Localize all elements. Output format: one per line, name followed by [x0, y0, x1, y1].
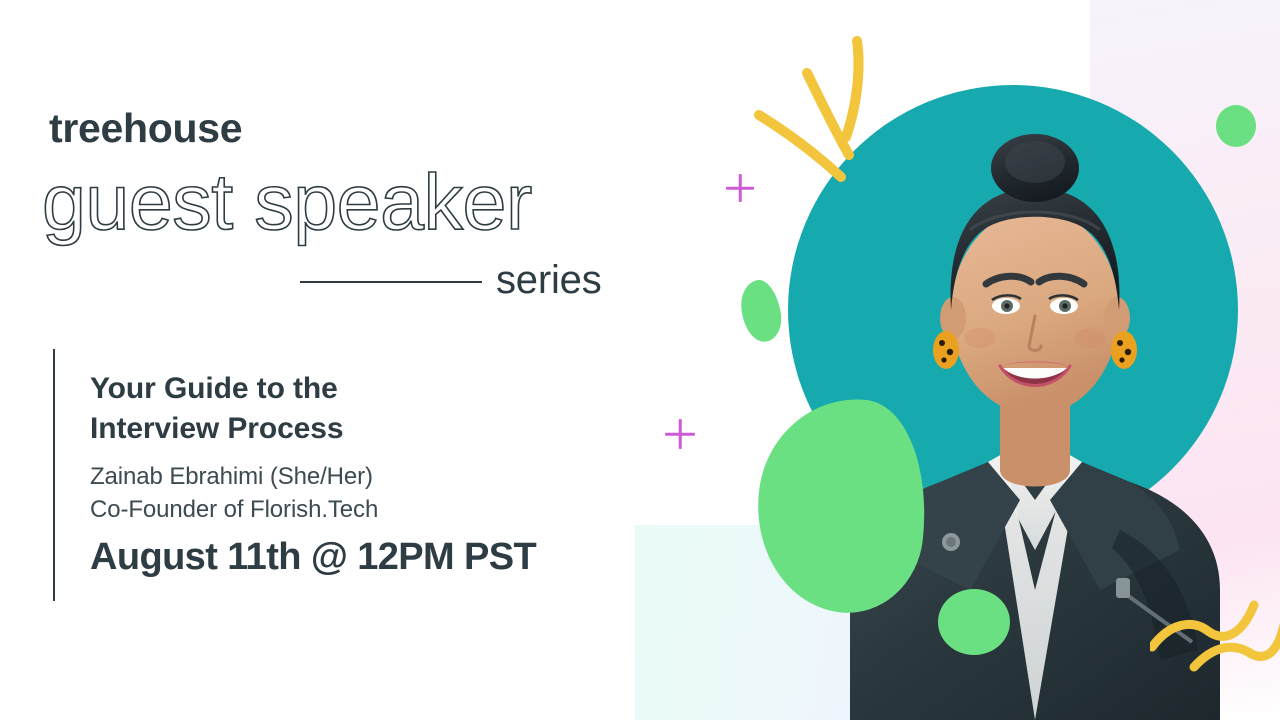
brand-wordmark: treehouse [49, 108, 242, 149]
green-ellipse-icon [1216, 105, 1256, 147]
wave-strokes-icon [1150, 575, 1280, 685]
series-label: series [496, 256, 602, 304]
session-title-line-1: Your Guide to the [90, 369, 570, 409]
promo-slide: treehouse guest speaker series Your Guid… [0, 0, 1280, 720]
speaker-name: Zainab Ebrahimi (She/Her) [90, 461, 373, 493]
green-circle-icon [938, 589, 1010, 655]
session-title: Your Guide to the Interview Process [90, 369, 570, 449]
sparkle-strokes-icon [745, 25, 900, 190]
speaker-role: Co-Founder of Florish.Tech [90, 494, 378, 526]
green-blob-small-icon [736, 277, 786, 346]
session-datetime: August 11th @ 12PM PST [90, 535, 536, 581]
headline-outline: guest speaker [42, 162, 532, 241]
series-row: series [300, 256, 630, 304]
plus-mark-icon [665, 419, 695, 449]
series-divider [300, 281, 482, 283]
session-title-line-2: Interview Process [90, 409, 570, 449]
vertical-divider [53, 349, 55, 601]
